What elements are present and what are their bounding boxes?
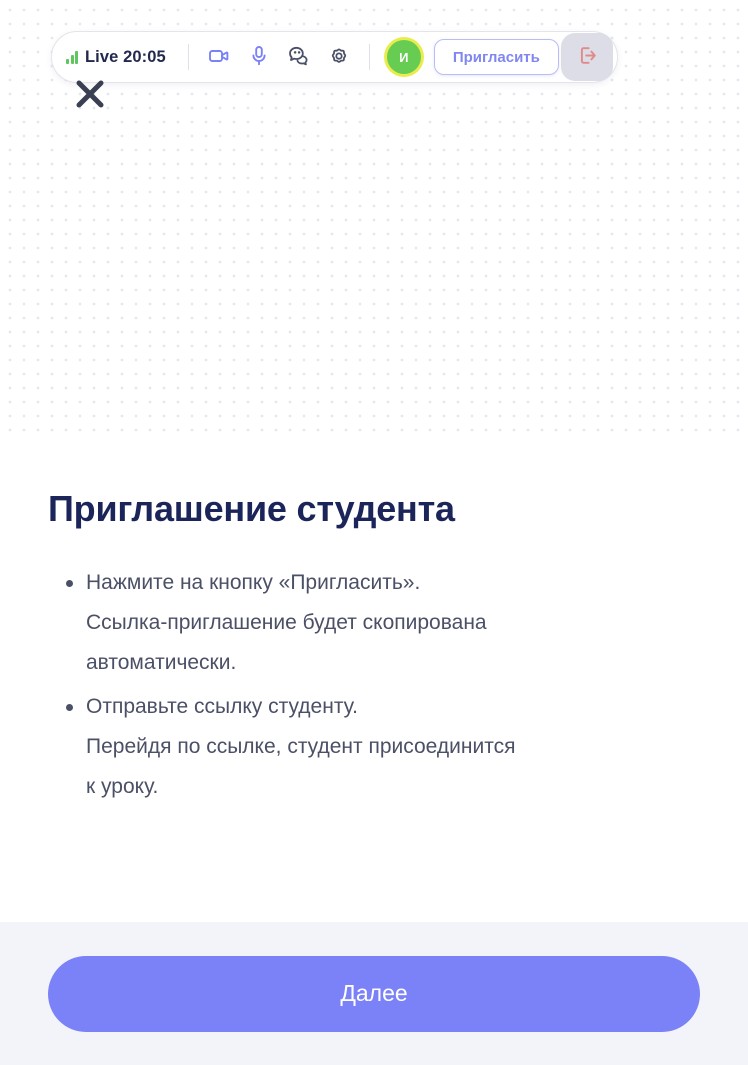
microphone-toggle-button[interactable] bbox=[239, 37, 279, 77]
page-title: Приглашение студента bbox=[48, 489, 700, 529]
step-line: к уроку. bbox=[86, 767, 688, 807]
signal-bars-icon bbox=[66, 51, 78, 64]
camera-icon bbox=[207, 44, 231, 71]
live-status: Live 20:05 bbox=[66, 48, 178, 67]
chat-button[interactable] bbox=[279, 37, 319, 77]
live-timer-label: Live 20:05 bbox=[85, 48, 166, 67]
whiteboard-canvas[interactable]: Live 20:05 bbox=[0, 0, 748, 437]
chat-icon bbox=[286, 43, 311, 71]
step-line: Перейдя по ссылке, студент присоединится bbox=[86, 727, 688, 767]
instructions-panel: Приглашение студента Нажмите на кнопку «… bbox=[0, 437, 748, 922]
toolbar-divider bbox=[188, 44, 189, 70]
toolbar-divider-2 bbox=[369, 44, 370, 70]
settings-gear-icon bbox=[327, 44, 351, 71]
onboarding-screen: Live 20:05 bbox=[0, 0, 748, 1065]
step-line: Ссылка-приглашение будет скопирована bbox=[86, 603, 688, 643]
invite-button[interactable]: Пригласить bbox=[434, 39, 559, 75]
bullet-icon bbox=[66, 704, 73, 711]
bullet-icon bbox=[66, 580, 73, 587]
list-item: Нажмите на кнопку «Пригласить». Ссылка-п… bbox=[48, 563, 688, 683]
microphone-icon bbox=[247, 44, 271, 71]
call-toolbar: Live 20:05 bbox=[51, 31, 618, 83]
leave-call-icon bbox=[573, 42, 600, 72]
avatar-initial: И bbox=[387, 40, 421, 74]
participant-avatar[interactable]: И bbox=[383, 36, 425, 78]
camera-toggle-button[interactable] bbox=[199, 37, 239, 77]
next-button[interactable]: Далее bbox=[48, 956, 700, 1032]
step-line: автоматически. bbox=[86, 643, 688, 683]
step-line: Нажмите на кнопку «Пригласить». bbox=[86, 563, 688, 603]
leave-call-button[interactable] bbox=[561, 33, 613, 81]
settings-button[interactable] bbox=[319, 37, 359, 77]
x-cursor bbox=[68, 72, 112, 116]
list-item: Отправьте ссылку студенту. Перейдя по сс… bbox=[48, 687, 688, 807]
steps-list: Нажмите на кнопку «Пригласить». Ссылка-п… bbox=[48, 563, 700, 807]
footer-bar: Далее bbox=[0, 922, 748, 1065]
step-line: Отправьте ссылку студенту. bbox=[86, 687, 688, 727]
